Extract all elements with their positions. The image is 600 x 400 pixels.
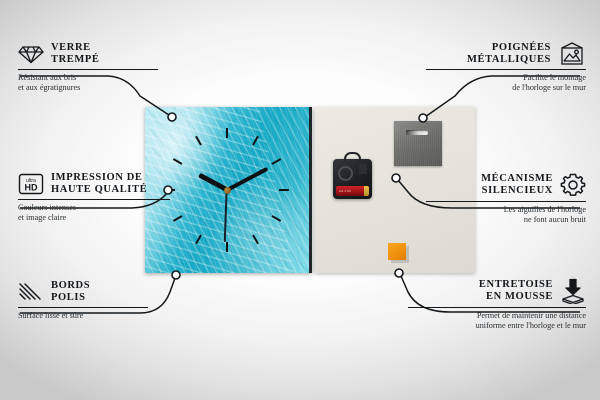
callout-desc-line1: Couleurs intenses	[18, 203, 170, 213]
callout-entretoise-en-mousse: ENTRETOISE EN MOUSSE Permet de maintenir…	[408, 278, 586, 331]
movement-hanger-loop	[344, 152, 361, 161]
callout-title-line2: EN MOUSSE	[479, 291, 553, 303]
tick-mark	[227, 189, 289, 191]
callout-header: ultra HD IMPRESSION DE HAUTE QUALITÉ	[18, 172, 170, 196]
callout-rule	[18, 307, 148, 308]
metal-hanger-plate	[394, 121, 442, 166]
tick-mark	[173, 189, 228, 222]
svg-text:HD: HD	[25, 183, 38, 193]
callout-title-line1: VERRE	[51, 42, 100, 54]
callout-rule	[18, 199, 170, 200]
hanging-frame-icon	[558, 42, 586, 66]
callout-rule	[18, 69, 158, 70]
diamond-icon	[18, 44, 44, 64]
callout-verre-trempe: VERRE TREMPÉ Résistant aux bris et aux é…	[18, 42, 158, 93]
callout-header: BORDS POLIS	[18, 280, 148, 304]
quartz-movement: AA 1.5V	[333, 159, 372, 199]
callout-poignees-metalliques: POIGNÉES MÉTALLIQUES Facilite le montage…	[426, 42, 586, 93]
callout-desc-line2: de l'horloge sur le mur	[426, 83, 586, 93]
foam-spacer	[388, 243, 406, 260]
callout-impression-haute-qualite: ultra HD IMPRESSION DE HAUTE QUALITÉ Cou…	[18, 172, 170, 223]
tick-mark	[165, 189, 227, 191]
callout-title-line1: MÉCANISME	[481, 173, 553, 185]
movement-dial	[338, 166, 353, 181]
callout-desc-line1: Résistant aux bris	[18, 73, 158, 83]
callout-desc-line2: ne font aucun bruit	[426, 215, 586, 225]
callout-header: POIGNÉES MÉTALLIQUES	[426, 42, 586, 66]
callout-desc-line1: Les aiguilles de l'horloge	[426, 205, 586, 215]
gear-icon	[560, 172, 586, 198]
hanger-slot	[406, 130, 428, 135]
callout-header: ENTRETOISE EN MOUSSE	[408, 278, 586, 304]
callout-desc-line2: uniforme entre l'horloge et le mur	[408, 321, 586, 331]
callout-header: MÉCANISME SILENCIEUX	[426, 172, 586, 198]
polished-edge-icon	[18, 282, 44, 302]
callout-title-line1: BORDS	[51, 280, 90, 292]
callout-bords-polis: BORDS POLIS Surface lisse et sûre	[18, 280, 148, 321]
callout-title-line1: POIGNÉES	[467, 42, 551, 54]
callout-title-line2: SILENCIEUX	[481, 185, 553, 197]
foam-spacer-icon	[560, 278, 586, 304]
callout-rule	[426, 69, 586, 70]
callout-title-line1: IMPRESSION DE	[51, 172, 147, 184]
callout-title-line2: HAUTE QUALITÉ	[51, 184, 147, 196]
callout-desc-line2: et aux égratignures	[18, 83, 158, 93]
callout-title-line2: POLIS	[51, 292, 90, 304]
ultra-hd-icon: ultra HD	[18, 173, 44, 195]
callout-title-line2: TREMPÉ	[51, 54, 100, 66]
hand-center-cap	[224, 187, 231, 194]
battery-positive-cap	[364, 186, 369, 196]
clock-front-panel	[145, 107, 312, 273]
callout-header: VERRE TREMPÉ	[18, 42, 158, 66]
callout-desc-line1: Permet de maintenir une distance	[408, 311, 586, 321]
callout-desc-line1: Facilite le montage	[426, 73, 586, 83]
movement-notch	[359, 164, 367, 174]
callout-rule	[408, 307, 586, 308]
callout-desc-line2: et image claire	[18, 213, 170, 223]
callout-desc-line1: Surface lisse et sûre	[18, 311, 148, 321]
battery-label: AA 1.5V	[339, 189, 351, 193]
callout-rule	[426, 201, 586, 202]
callout-title-line1: ENTRETOISE	[479, 279, 553, 291]
tick-mark	[226, 128, 228, 190]
callout-mecanisme-silencieux: MÉCANISME SILENCIEUX Les aiguilles de l'…	[426, 172, 586, 225]
callout-title-line2: MÉTALLIQUES	[467, 54, 551, 66]
battery: AA 1.5V	[336, 186, 369, 196]
